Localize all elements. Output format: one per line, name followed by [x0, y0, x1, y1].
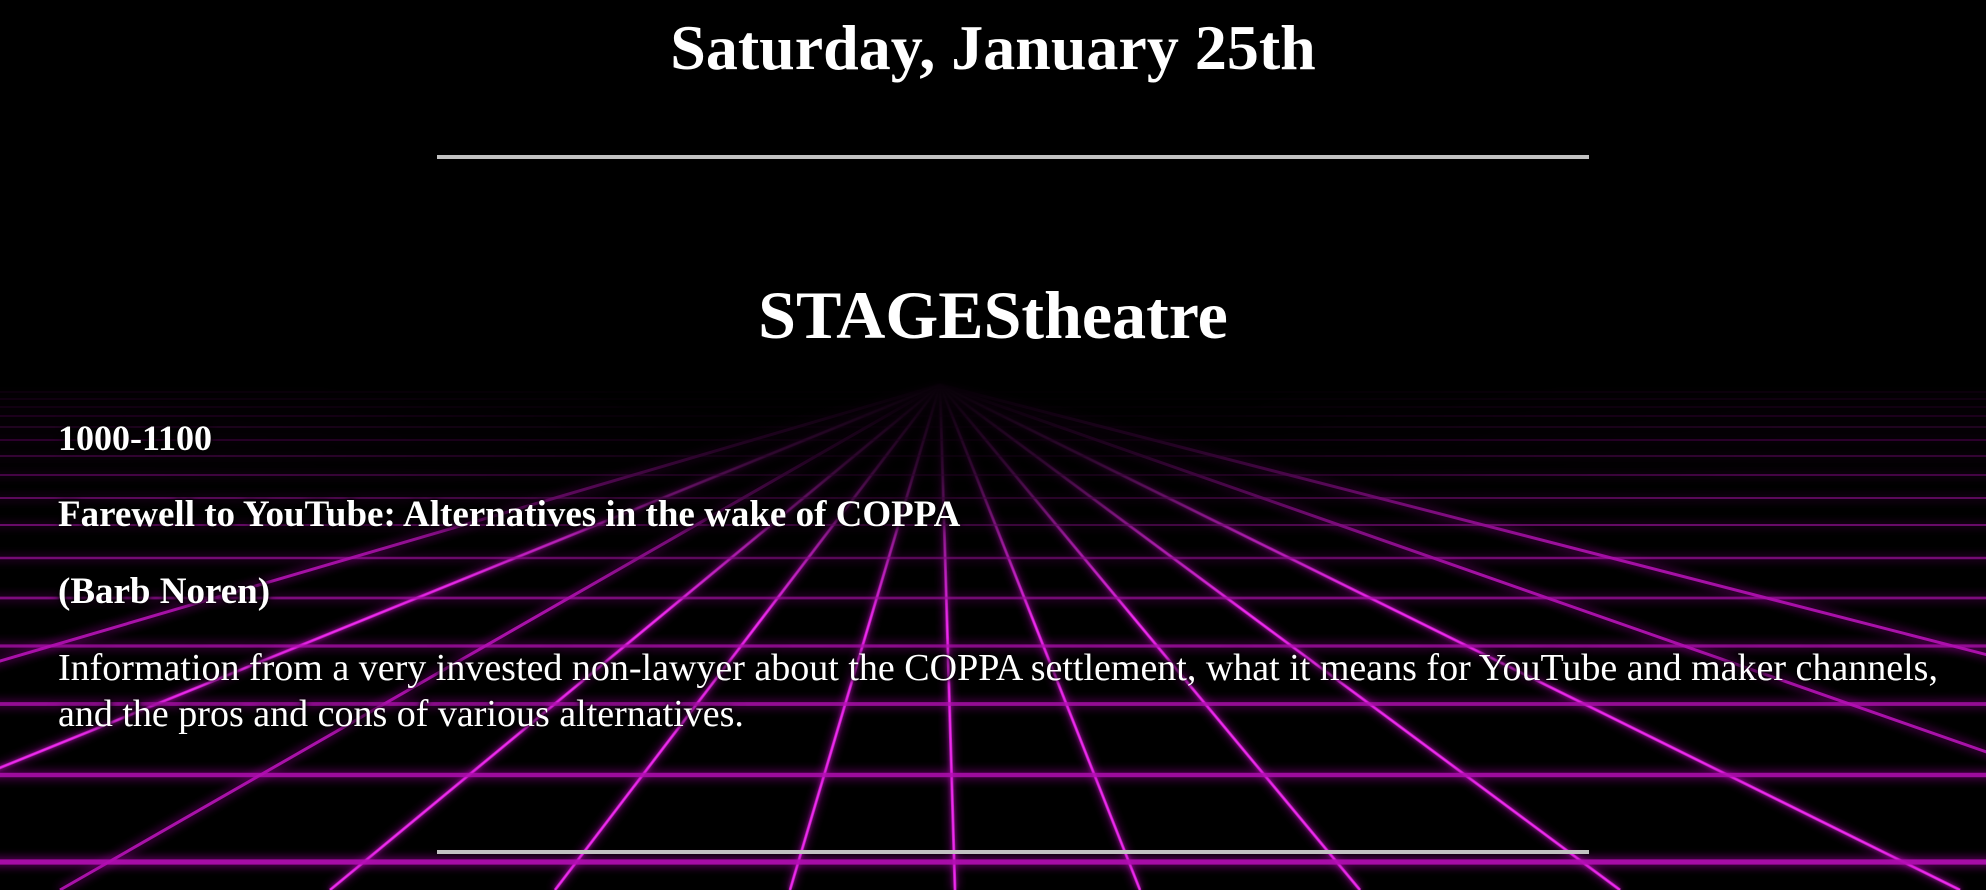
top-divider [437, 155, 1589, 159]
session-details: 1000-1100 Farewell to YouTube: Alternati… [58, 420, 1958, 737]
session-time-range: 1000-1100 [58, 420, 1958, 456]
event-schedule-slide: Saturday, January 25th STAGEStheatre 100… [0, 0, 1986, 890]
session-title: Farewell to YouTube: Alternatives in the… [58, 496, 1958, 533]
bottom-divider [437, 850, 1589, 854]
venue-name: STAGEStheatre [0, 280, 1986, 351]
page-title: Saturday, January 25th [0, 14, 1986, 81]
slide-content: Saturday, January 25th STAGEStheatre 100… [0, 0, 1986, 890]
session-description: Information from a very invested non-law… [58, 646, 1948, 737]
session-presenter: (Barb Noren) [58, 573, 1958, 610]
